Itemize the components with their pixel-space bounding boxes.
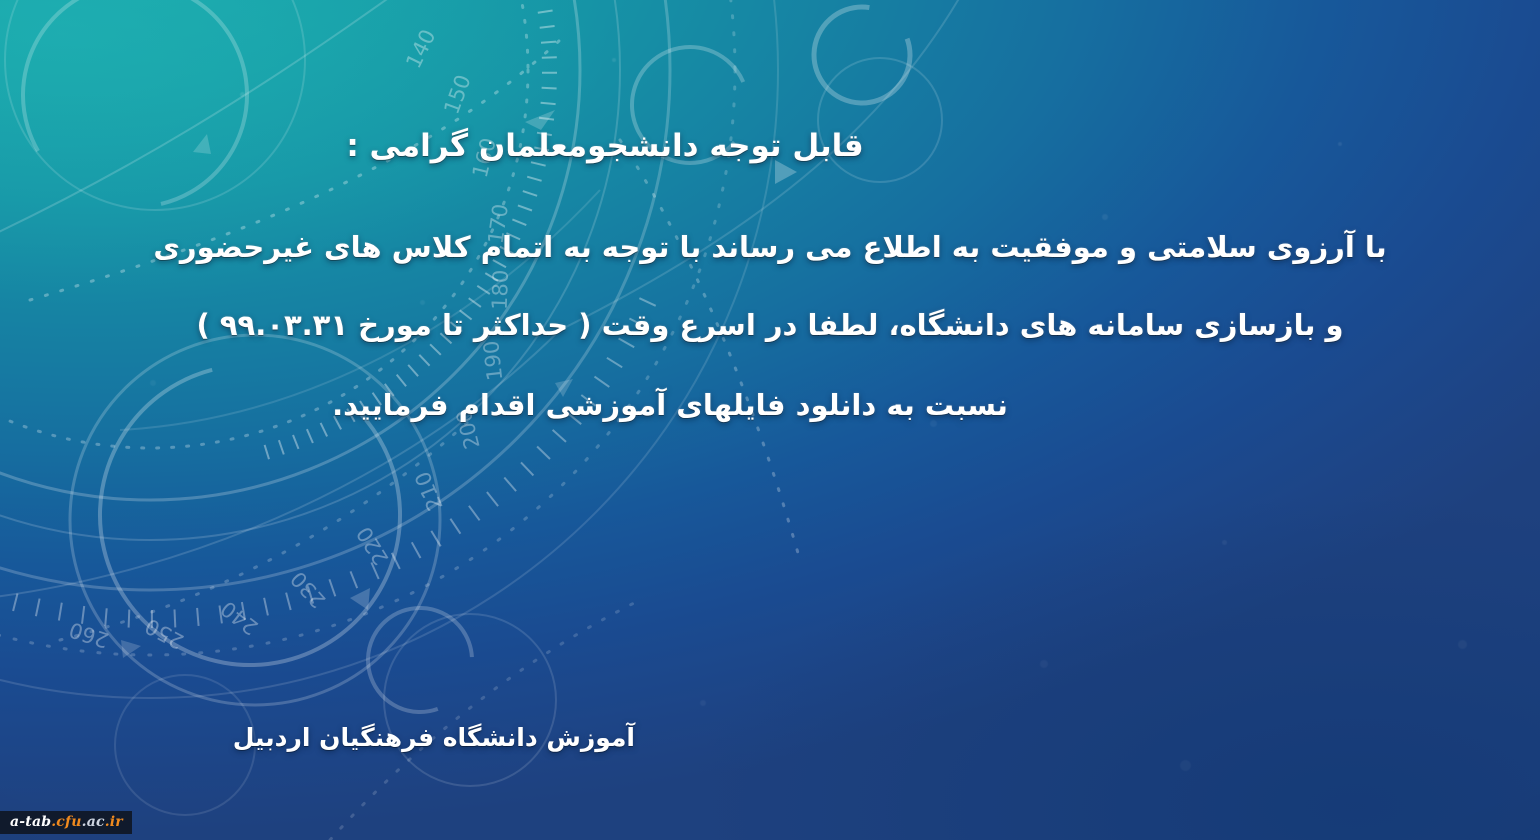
site-watermark: a-tab.cfu.ac.ir (0, 811, 132, 834)
watermark-part-2: .cfu (51, 814, 81, 830)
announcement-body-line-1: با آرزوی سلامتی و موفقیت به اطلاع می رسا… (70, 230, 1470, 264)
announcement-title: قابل توجه دانشجومعلمان گرامی : (70, 128, 1470, 164)
announcement-signature: آموزش دانشگاه فرهنگیان اردبیل (233, 723, 635, 752)
watermark-part-4: .ir (105, 814, 123, 830)
announcement-body-line-3: نسبت به دانلود فایلهای آموزشی اقدام فرما… (70, 388, 1470, 422)
watermark-part-3: .ac (82, 814, 105, 830)
announcement-text-block: قابل توجه دانشجومعلمان گرامی : با آرزوی … (0, 0, 1540, 840)
announcement-slide: 140 150 160 170 180 190 200 210 220 230 … (0, 0, 1540, 840)
announcement-body-line-2: و بازسازی سامانه های دانشگاه، لطفا در اس… (70, 308, 1470, 342)
watermark-part-1: a-tab (10, 814, 51, 830)
